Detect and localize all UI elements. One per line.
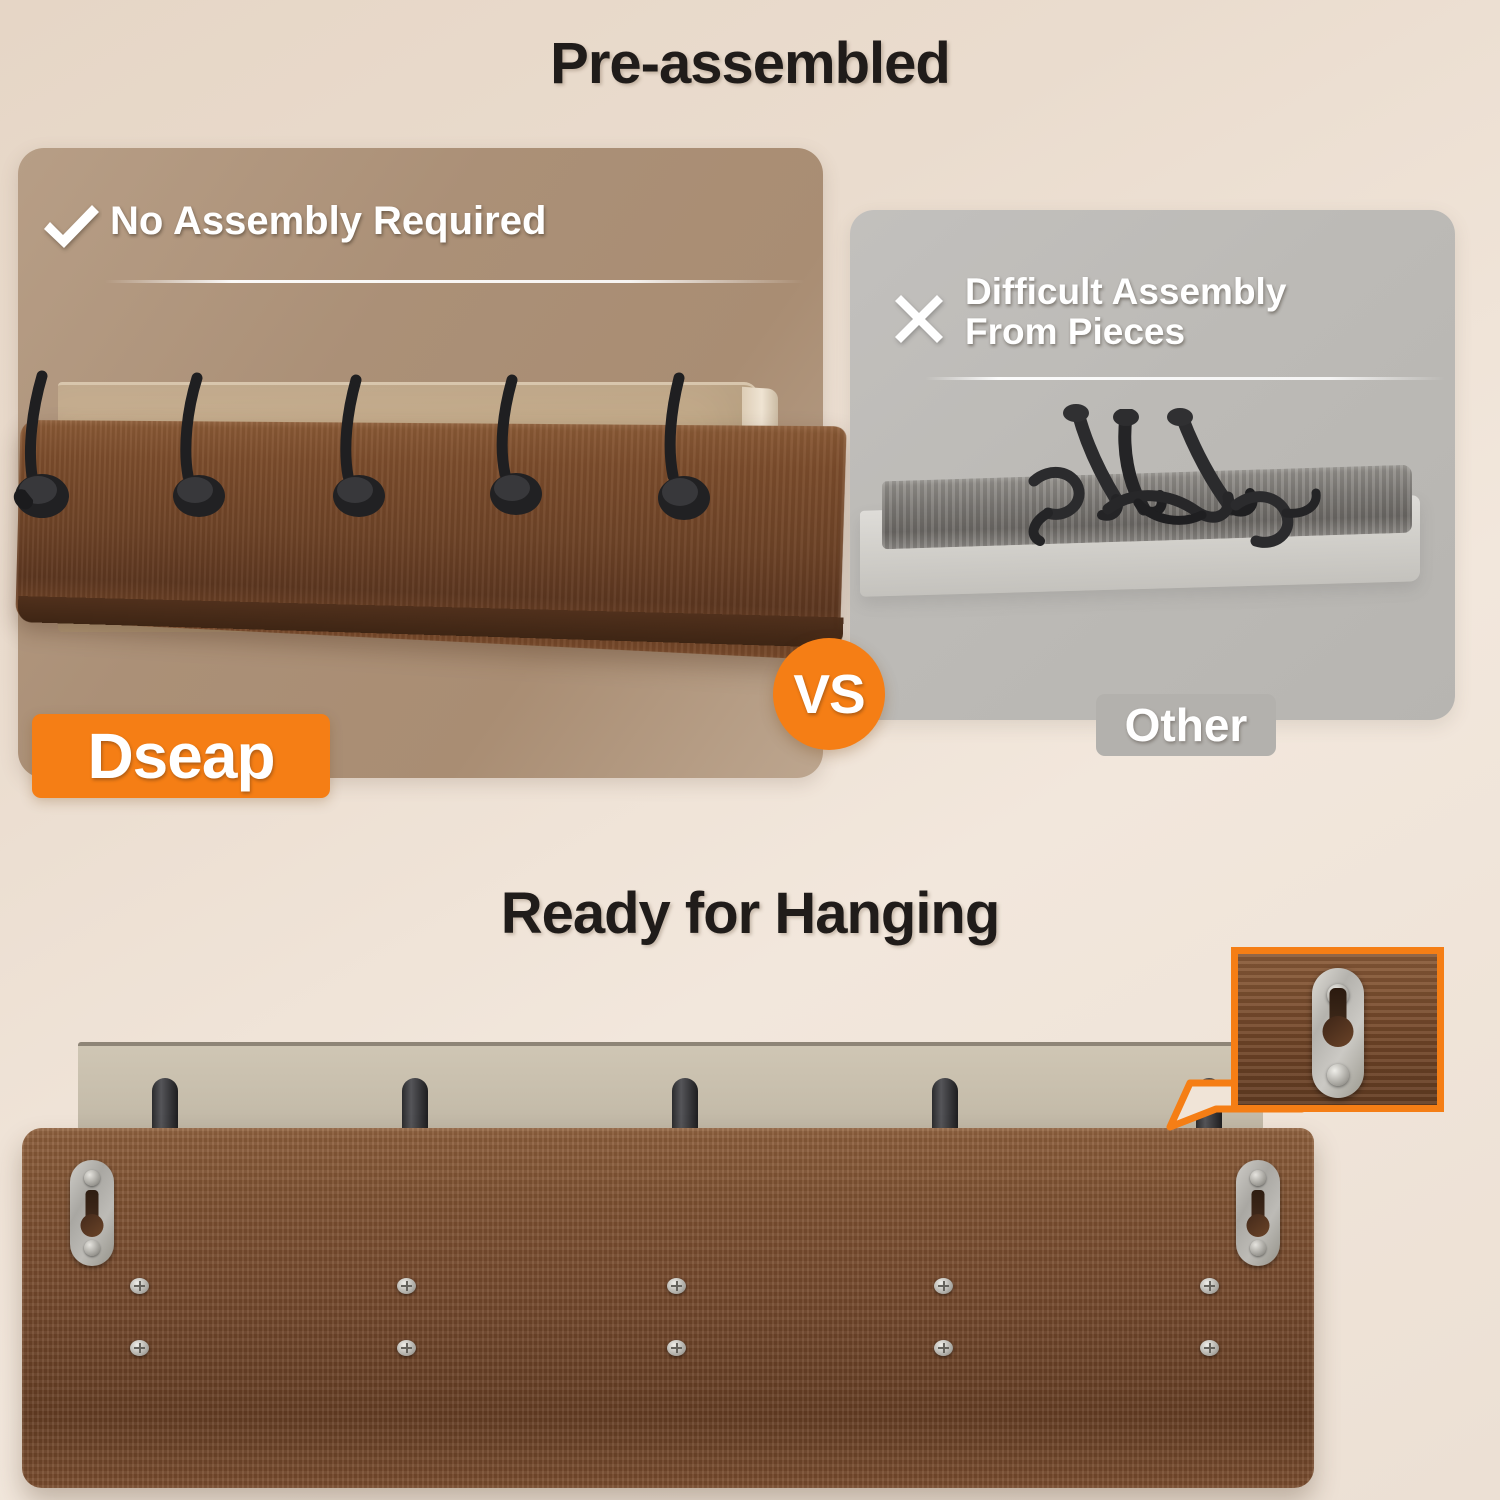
mounting-screw — [130, 1340, 149, 1356]
wood-board-back — [22, 1128, 1314, 1488]
loose-hook — [1230, 479, 1340, 559]
callout-screw-bottom — [1327, 1064, 1349, 1086]
keyhole-hanger-callout — [1231, 947, 1444, 1112]
mounting-screw — [397, 1340, 416, 1356]
mounting-screw — [934, 1278, 953, 1294]
disassembled-pieces-photo — [850, 395, 1455, 645]
plate-screw — [84, 1170, 100, 1186]
mounting-screw — [1200, 1278, 1219, 1294]
keyhole-slot — [86, 1190, 99, 1234]
coat-hook — [478, 374, 552, 560]
page-title-bottom: Ready for Hanging — [0, 880, 1500, 947]
plate-screw — [84, 1240, 100, 1256]
bad-panel-divider — [925, 377, 1445, 380]
loose-hook — [1098, 469, 1248, 549]
check-icon — [40, 202, 102, 254]
good-panel-divider — [105, 280, 805, 283]
pre-assembled-coat-rack-photo — [0, 360, 805, 660]
other-badge: Other — [1096, 694, 1276, 756]
mounting-screw — [667, 1340, 686, 1356]
bad-panel-label: Difficult Assembly From Pieces — [965, 272, 1286, 352]
mounting-screw — [1200, 1340, 1219, 1356]
mounting-screw — [130, 1278, 149, 1294]
coat-hook — [322, 374, 396, 562]
plate-screw — [1250, 1240, 1266, 1256]
mounting-screw — [934, 1340, 953, 1356]
keyhole-hanger-left — [70, 1160, 114, 1266]
mounting-screw — [397, 1278, 416, 1294]
coat-hook — [163, 372, 237, 562]
bad-panel-label-line1: Difficult Assembly — [965, 271, 1286, 312]
good-panel-label: No Assembly Required — [110, 200, 546, 243]
mounting-screw — [667, 1278, 686, 1294]
page-title-top: Pre-assembled — [0, 30, 1500, 97]
bad-panel-label-line2: From Pieces — [965, 311, 1185, 352]
x-icon — [890, 290, 948, 348]
brand-badge-dseap: Dseap — [32, 714, 330, 798]
versus-badge: VS — [773, 638, 885, 750]
keyhole-slot-detail — [1329, 988, 1346, 1042]
coat-hook — [645, 372, 719, 562]
coat-hook — [8, 370, 82, 566]
